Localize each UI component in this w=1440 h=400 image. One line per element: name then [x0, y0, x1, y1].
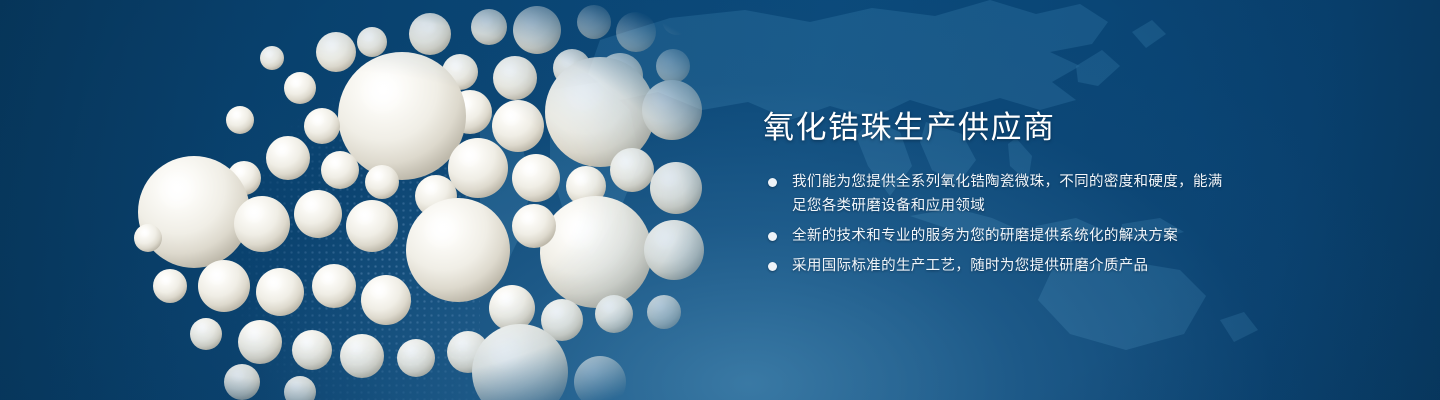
bullet-dot-icon: [768, 262, 777, 271]
feature-list: 我们能为您提供全系列氧化锆陶瓷微珠，不同的密度和硬度，能满足您各类研磨设备和应用…: [763, 170, 1233, 278]
list-item-label: 采用国际标准的生产工艺，随时为您提供研磨介质产品: [792, 254, 1233, 278]
list-item-label: 全新的技术和专业的服务为您的研磨提供系统化的解决方案: [792, 224, 1233, 248]
hero-banner: 氧化锆珠生产供应商 我们能为您提供全系列氧化锆陶瓷微珠，不同的密度和硬度，能满足…: [0, 0, 1440, 400]
list-item: 全新的技术和专业的服务为您的研磨提供系统化的解决方案: [763, 224, 1233, 248]
banner-content: 氧化锆珠生产供应商 我们能为您提供全系列氧化锆陶瓷微珠，不同的密度和硬度，能满足…: [763, 108, 1233, 278]
bullet-dot-icon: [768, 232, 777, 241]
list-item-label: 我们能为您提供全系列氧化锆陶瓷微珠，不同的密度和硬度，能满足您各类研磨设备和应用…: [792, 170, 1233, 218]
list-item: 我们能为您提供全系列氧化锆陶瓷微珠，不同的密度和硬度，能满足您各类研磨设备和应用…: [763, 170, 1233, 218]
bullet-dot-icon: [768, 178, 777, 187]
list-item: 采用国际标准的生产工艺，随时为您提供研磨介质产品: [763, 254, 1233, 278]
zirconia-beads-photo: [0, 0, 760, 400]
page-title: 氧化锆珠生产供应商: [763, 108, 1233, 148]
